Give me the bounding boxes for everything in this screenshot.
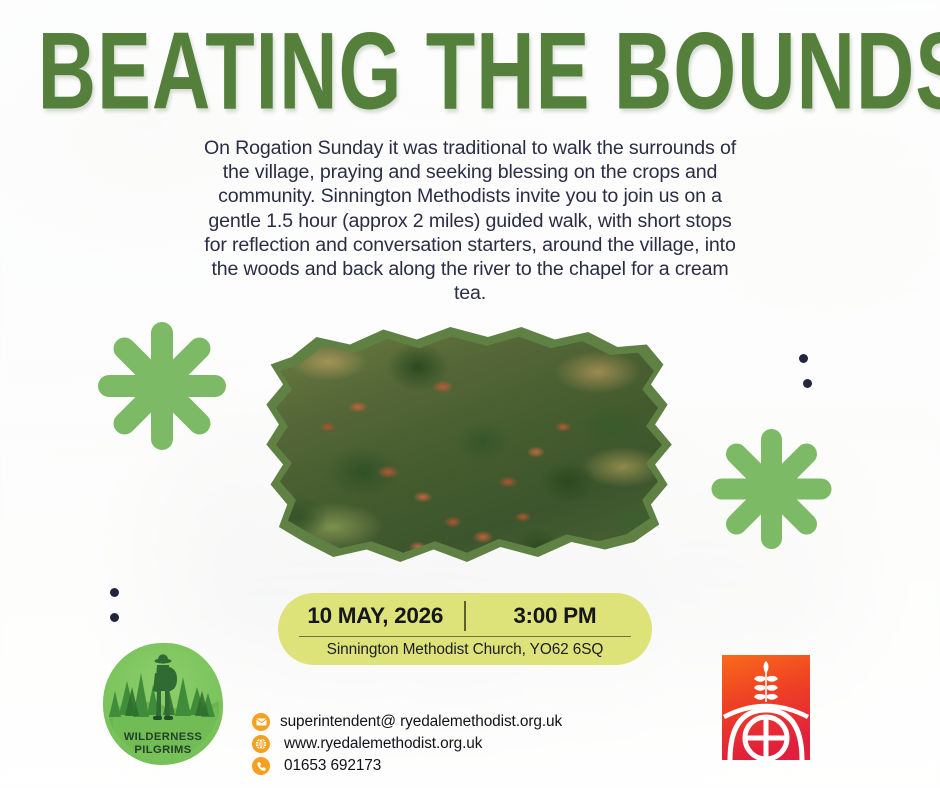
logo-text-line1: WILDERNESS	[103, 731, 223, 744]
email-address: superintendent@ ryedalemethodist.org.uk	[280, 713, 562, 731]
poster-canvas: BEATING THE BOUNDS On Rogation Sunday it…	[0, 0, 940, 788]
contact-row-website[interactable]: www.ryedalemethodist.org.uk	[252, 734, 562, 754]
dot-decoration-right-2	[803, 379, 812, 388]
phone-icon	[252, 757, 270, 775]
contact-row-phone[interactable]: 01653 692173	[252, 756, 562, 776]
logo-text-line2: PILGRIMS	[103, 744, 223, 757]
event-date: 10 MAY, 2026	[286, 603, 464, 629]
phone-number: 01653 692173	[280, 757, 381, 775]
banner-horizontal-rule	[299, 636, 631, 637]
globe-icon	[252, 735, 270, 753]
photo-clip	[268, 332, 666, 562]
wilderness-pilgrims-logo: WILDERNESS PILGRIMS	[103, 643, 223, 765]
website-url: www.ryedalemethodist.org.uk	[280, 735, 482, 753]
contact-row-email[interactable]: superintendent@ ryedalemethodist.org.uk	[252, 712, 562, 732]
dot-decoration-right-1	[799, 354, 808, 363]
page-title: BEATING THE BOUNDS	[38, 17, 903, 126]
event-details-banner: 10 MAY, 2026 3:00 PM Sinnington Methodis…	[278, 593, 652, 665]
dot-decoration-left-2	[110, 613, 119, 622]
contact-block: superintendent@ ryedalemethodist.org.uk …	[252, 712, 562, 776]
village-photo	[258, 322, 676, 572]
asterisk-decoration-right	[706, 424, 836, 554]
aerial-village-image	[268, 332, 666, 562]
logo-text: WILDERNESS PILGRIMS	[103, 731, 223, 757]
envelope-icon	[252, 713, 270, 731]
banner-date-time-row: 10 MAY, 2026 3:00 PM	[278, 601, 652, 631]
event-venue: Sinnington Methodist Church, YO62 6SQ	[327, 641, 604, 659]
event-time: 3:00 PM	[466, 603, 644, 629]
dot-decoration-left-1	[110, 588, 119, 597]
asterisk-decoration-left	[92, 316, 232, 456]
methodist-church-logo	[722, 655, 810, 760]
description-text: On Rogation Sunday it was traditional to…	[204, 136, 736, 305]
